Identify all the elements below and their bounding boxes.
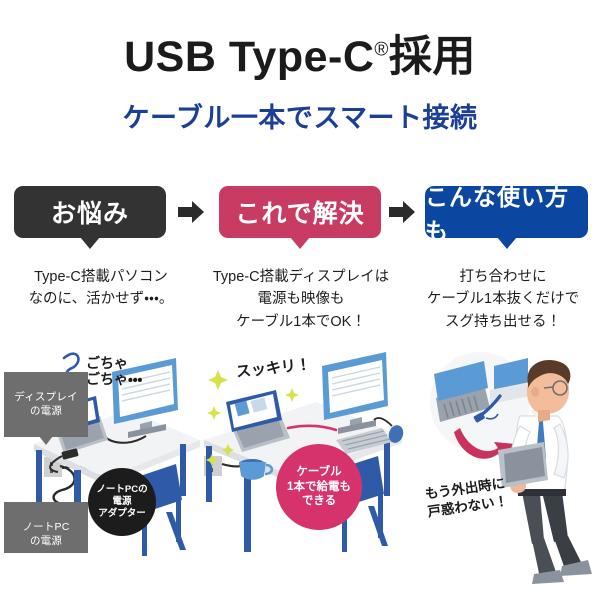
badge-row: お悩み これで解決 こんな使い方も bbox=[0, 186, 600, 248]
single-cable-badge-label: ケーブル 1本で給電も できる bbox=[287, 465, 351, 510]
display-power-tag-label: ディスプレイ の電源 bbox=[14, 391, 77, 417]
power-adapter-badge-label: ノートPCの 電源 アダプター bbox=[96, 484, 147, 520]
infographic-page: USB Type-C®採用 ケーブル一本でスマート接続 お悩み これで解決 こん… bbox=[0, 0, 600, 600]
badge-usecase-label: こんな使い方も bbox=[425, 178, 588, 246]
laptop-power-tag-label: ノートPC の電源 bbox=[22, 521, 69, 547]
page-title-suffix: 採用 bbox=[389, 33, 476, 81]
badge-problem-label: お悩み bbox=[51, 194, 129, 230]
arrow-problem-to-solution bbox=[178, 200, 204, 224]
power-adapter-badge: ノートPCの 電源 アダプター bbox=[88, 468, 156, 536]
badge-usecase-tail bbox=[497, 237, 517, 249]
page-title-main: USB Type-C bbox=[124, 33, 374, 81]
body-text-problem: Type-C搭載パソコン なのに、活かせず・・・。 bbox=[6, 266, 196, 311]
arrow-solution-to-usecase bbox=[389, 200, 415, 224]
badge-solution-label: これで解決 bbox=[235, 194, 364, 230]
body-text-solution: Type-C搭載ディスプレイは 電源も映像も ケーブル1本でOK！ bbox=[198, 266, 404, 333]
clean-desk-illustration: ケーブル 1本で給電も できる スッキリ！ bbox=[196, 344, 408, 600]
messy-scribble-text: ごちゃ ごちゃ・・・ bbox=[86, 355, 142, 387]
single-cable-badge: ケーブル 1本で給電も できる bbox=[276, 444, 362, 530]
registered-trademark-icon: ® bbox=[374, 40, 389, 61]
page-subtitle: ケーブル一本でスマート接続 bbox=[0, 96, 600, 135]
page-title: USB Type-C®採用 bbox=[0, 22, 600, 84]
businessman-walking-illustration: もう外出時に 戸惑わない！ bbox=[404, 344, 600, 600]
laptop-power-tag: ノートPC の電源 bbox=[4, 502, 88, 553]
badge-problem: お悩み bbox=[14, 186, 166, 238]
badge-problem-tail bbox=[80, 237, 100, 249]
badge-solution-tail bbox=[290, 237, 310, 249]
body-text-usecase: 打ち合わせに ケーブル1本抜くだけで スグ持ち出せる！ bbox=[408, 266, 598, 333]
display-power-tag-pointer bbox=[39, 436, 53, 445]
badge-solution: これで解決 bbox=[219, 186, 381, 238]
display-power-tag: ディスプレイ の電源 bbox=[4, 372, 88, 437]
badge-usecase: こんな使い方も bbox=[425, 186, 588, 238]
messy-desk-illustration: ディスプレイ の電源 ノートPC の電源 ノートPCの 電源 アダプター ごちゃ… bbox=[0, 344, 200, 600]
